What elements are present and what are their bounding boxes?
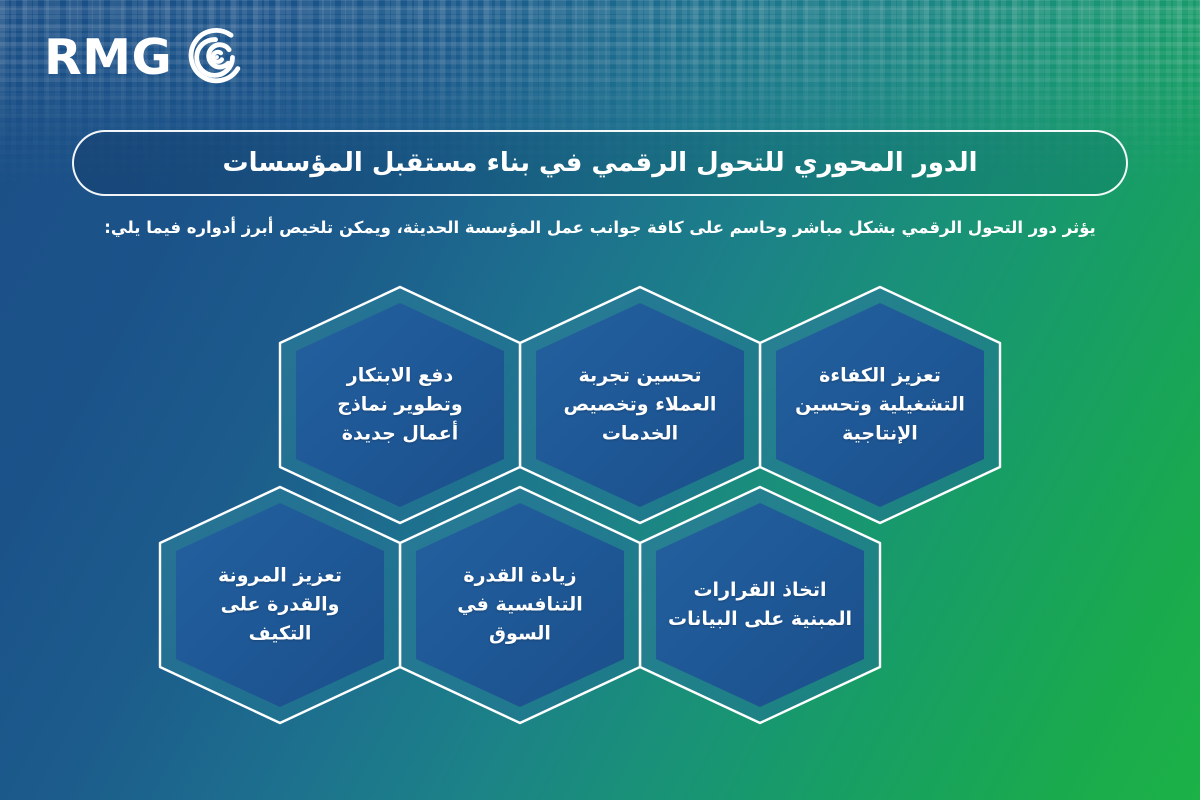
hexagon-label-efficiency: تعزيز الكفاءةالتشغيلية وتحسينالإنتاجية: [785, 362, 975, 449]
hexagon-label-line: اتخاذ القرارات: [665, 576, 855, 605]
hexagon-label-line: أعمال جديدة: [305, 419, 495, 448]
hexagon-label-line: وتطوير نماذج: [305, 391, 495, 420]
hexagon-label-line: العملاء وتخصيص: [545, 391, 735, 420]
infographic-canvas: RMG الدور المحوري للتحول الرقمي في بناء …: [0, 0, 1200, 800]
rmg-spiral-logo-icon: [186, 26, 248, 88]
hexagon-label-line: التشغيلية وتحسين: [785, 391, 975, 420]
brand-name: RMG: [44, 33, 172, 82]
hexagon-label-line: تعزيز الكفاءة: [785, 362, 975, 391]
hexagon-label-line: تعزيز المرونة: [185, 562, 375, 591]
page-title: الدور المحوري للتحول الرقمي في بناء مستق…: [198, 147, 1001, 180]
hexagon-label-line: والقدرة على: [185, 591, 375, 620]
hexagon-label-line: دفع الابتكار: [305, 362, 495, 391]
hexagon-label-customer-experience: تحسين تجربةالعملاء وتخصيصالخدمات: [545, 362, 735, 449]
brand-logo[interactable]: RMG: [44, 26, 248, 88]
hexagon-label-line: المبنية على البيانات: [665, 605, 855, 634]
hexagon-label-line: التنافسية في: [425, 591, 615, 620]
hexagon-label-competitiveness: زيادة القدرةالتنافسية فيالسوق: [425, 562, 615, 649]
hexagon-label-agility: تعزيز المرونةوالقدرة علىالتكيف: [185, 562, 375, 649]
hexagon-label-line: السوق: [425, 619, 615, 648]
hexagon-label-line: الإنتاجية: [785, 419, 975, 448]
hexagon-label-data-driven-decisions: اتخاذ القراراتالمبنية على البيانات: [665, 576, 855, 634]
hexagon-label-line: التكيف: [185, 619, 375, 648]
hexagon-label-line: الخدمات: [545, 419, 735, 448]
hexagon-label-line: تحسين تجربة: [545, 362, 735, 391]
page-subtitle: يؤثر دور التحول الرقمي بشكل مباشر وحاسم …: [60, 216, 1140, 239]
page-title-container: الدور المحوري للتحول الرقمي في بناء مستق…: [72, 130, 1128, 196]
hexagon-label-innovation: دفع الابتكاروتطوير نماذجأعمال جديدة: [305, 362, 495, 449]
hexagon-label-line: زيادة القدرة: [425, 562, 615, 591]
